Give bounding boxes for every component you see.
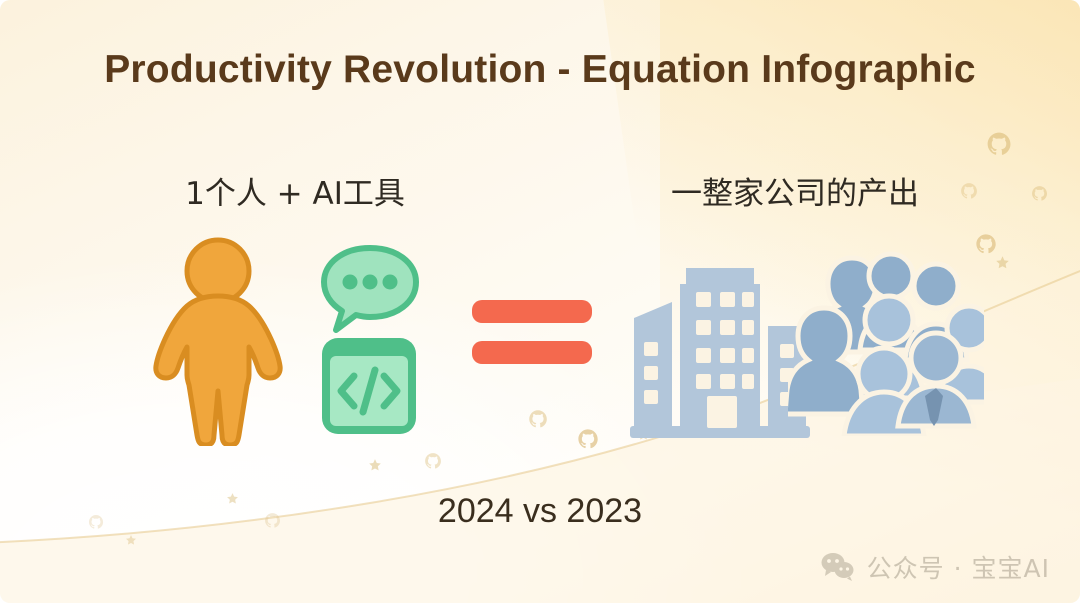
star-icon [125, 534, 137, 546]
equals-glyph [472, 296, 592, 368]
page-title: Productivity Revolution - Equation Infog… [0, 48, 1080, 92]
comparison-caption: 2024 vs 2023 [0, 492, 1080, 531]
equation-right-label: 一整家公司的产出 [600, 168, 990, 213]
star-icon [995, 255, 1010, 270]
github-octocat-icon [528, 409, 548, 429]
code-window-icon [318, 334, 420, 438]
person-icon [152, 234, 284, 446]
star-icon [368, 458, 382, 472]
github-octocat-icon [577, 428, 599, 450]
wechat-icon [821, 552, 855, 582]
people-crowd-icon [788, 246, 984, 436]
chat-bubble-icon [316, 242, 424, 338]
github-octocat-icon [424, 452, 442, 470]
watermark: 公众号 · 宝宝AI [821, 549, 1050, 585]
infographic-canvas: Productivity Revolution - Equation Infog… [0, 0, 1080, 603]
watermark-text: 公众号 · 宝宝AI [867, 549, 1050, 585]
github-octocat-icon [1031, 185, 1048, 202]
equation-left-label: 1个人 + AI工具 [100, 168, 490, 213]
equals-sign [472, 296, 592, 368]
github-octocat-icon [986, 131, 1012, 157]
office-building-icon [628, 256, 812, 440]
